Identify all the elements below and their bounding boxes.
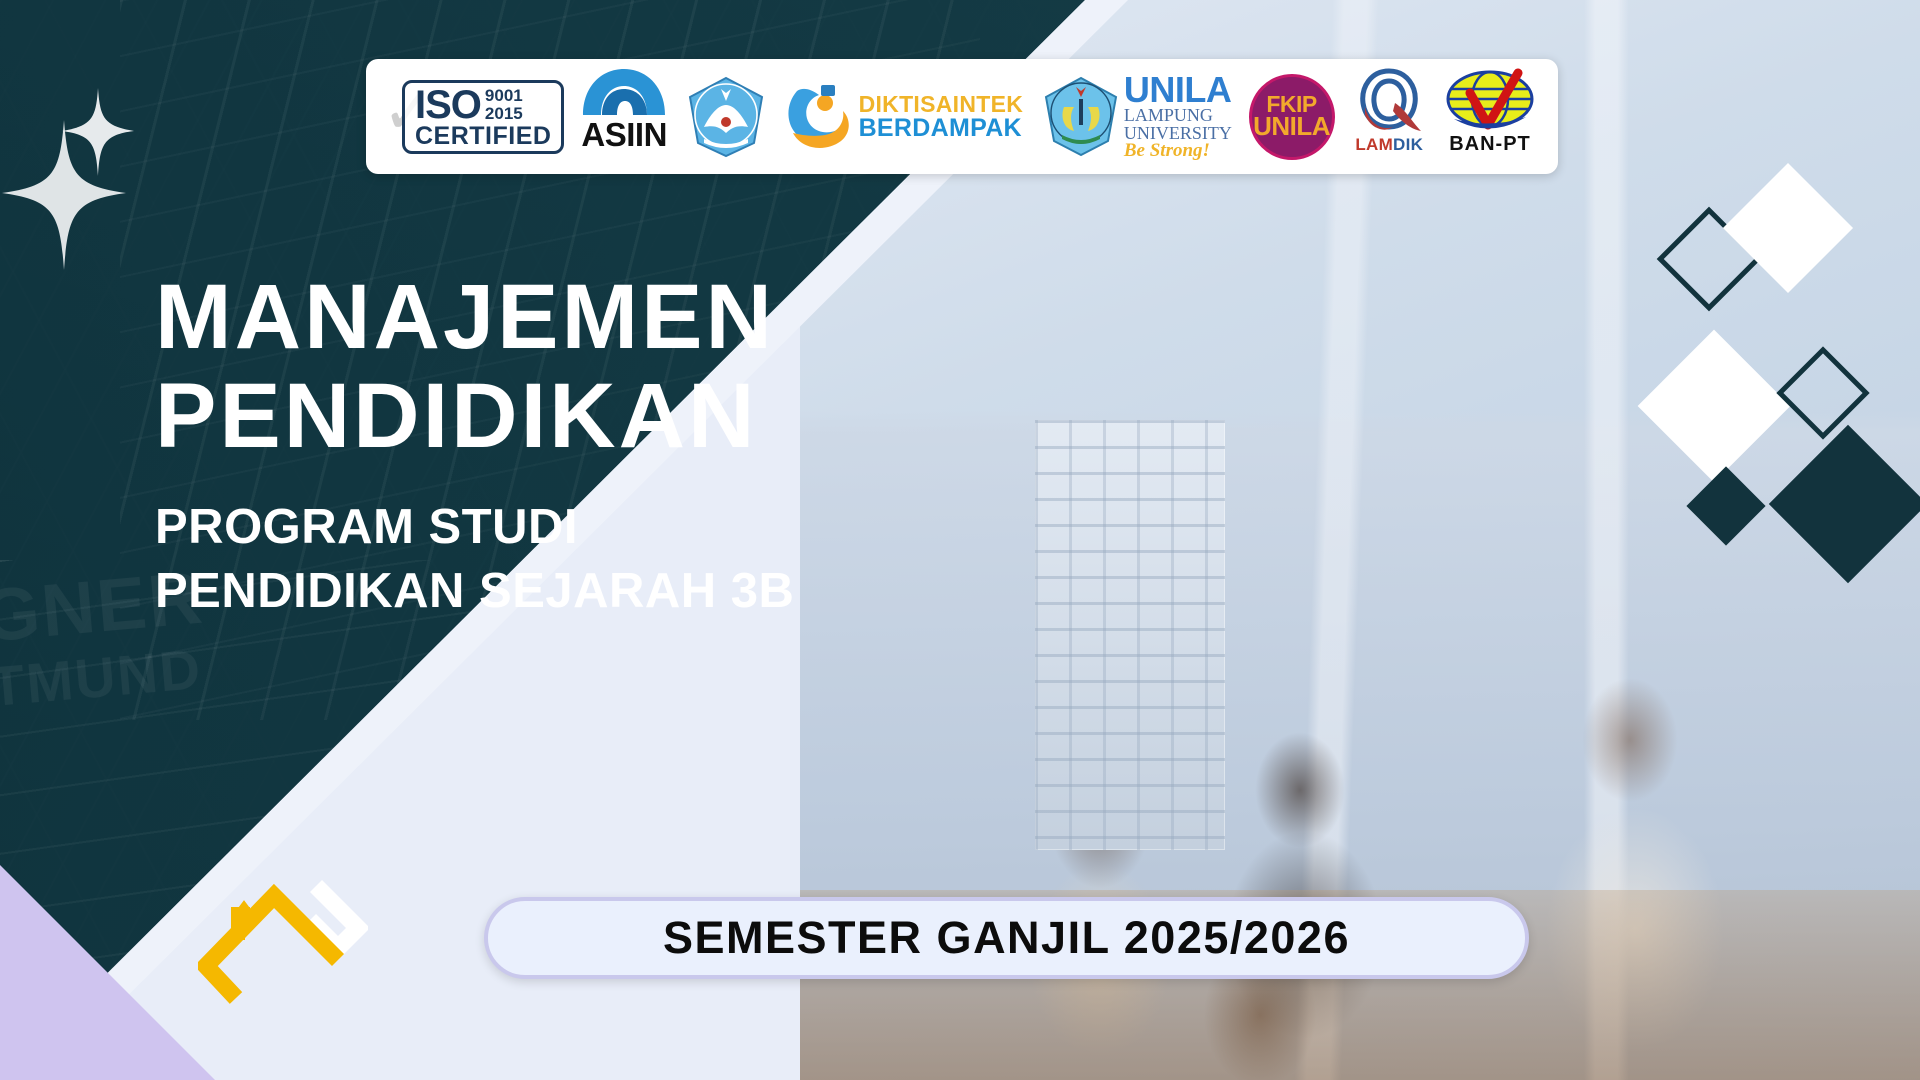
banpt-logo: BAN-PT — [1444, 67, 1536, 166]
lamdik-label-2: DIK — [1393, 135, 1423, 154]
semester-badge: SEMESTER GANJIL 2025/2026 — [484, 897, 1529, 979]
asiin-label: ASIIN — [581, 118, 667, 151]
subtitle-block: PROGRAM STUDI PENDIDIKAN SEJARAH 3B — [155, 495, 975, 624]
accreditation-logo-bar: ✓ ISO 9001 2015 CERTIFIED ASIIN — [366, 59, 1558, 174]
poster-canvas: GNER TMUND ✓ ISO 9001 — [0, 0, 1920, 1080]
tut-wuri-handayani-logo — [684, 67, 768, 166]
unila-logo: UNILA LAMPUNG UNIVERSITY Be Strong! — [1040, 67, 1232, 166]
asiin-logo: ASIIN — [581, 67, 667, 166]
sparkle-icon — [62, 88, 134, 176]
headline-block: MANAJEMEN PENDIDIKAN PROGRAM STUDI PENDI… — [155, 268, 975, 624]
iso-name: ISO — [415, 86, 481, 124]
iso-standard-2: 2015 — [485, 105, 523, 122]
lamdik-logo: LAMDIK — [1351, 67, 1427, 166]
fkip-unila-logo: FKIP UNILA — [1249, 67, 1335, 166]
kemendikbud-crest-icon — [684, 75, 768, 159]
fkip-line2: UNILA — [1253, 115, 1330, 139]
lamdik-label-1: LAM — [1355, 135, 1393, 154]
diktisaintek-figure-icon — [785, 79, 851, 155]
iso-certified-label: CERTIFIED — [415, 124, 551, 149]
title-line-1: MANAJEMEN — [155, 268, 975, 367]
title-line-2: PENDIDIKAN — [155, 367, 975, 466]
unila-line1: UNILA — [1124, 72, 1232, 107]
subtitle-line-2: PENDIDIKAN SEJARAH 3B — [155, 559, 975, 624]
house-outline-icon — [198, 878, 368, 1008]
diktisaintek-line1: DIKTISAINTEK — [859, 93, 1024, 116]
lamdik-q-icon — [1351, 67, 1427, 135]
semester-badge-label: SEMESTER GANJIL 2025/2026 — [663, 912, 1350, 964]
diktisaintek-line2: BERDAMPAK — [859, 116, 1024, 141]
asiin-arch-icon — [581, 67, 667, 117]
unila-crest-icon — [1040, 75, 1122, 159]
banpt-globe-icon — [1444, 67, 1536, 133]
iso-standard-1: 9001 — [485, 87, 523, 104]
window-building — [1035, 420, 1225, 850]
unila-tagline: Be Strong! — [1124, 142, 1232, 161]
banpt-label: BAN-PT — [1449, 133, 1531, 156]
iso-certified-logo: ✓ ISO 9001 2015 CERTIFIED — [388, 67, 564, 166]
diktisaintek-logo: DIKTISAINTEK BERDAMPAK — [785, 67, 1024, 166]
subtitle-line-1: PROGRAM STUDI — [155, 495, 975, 560]
